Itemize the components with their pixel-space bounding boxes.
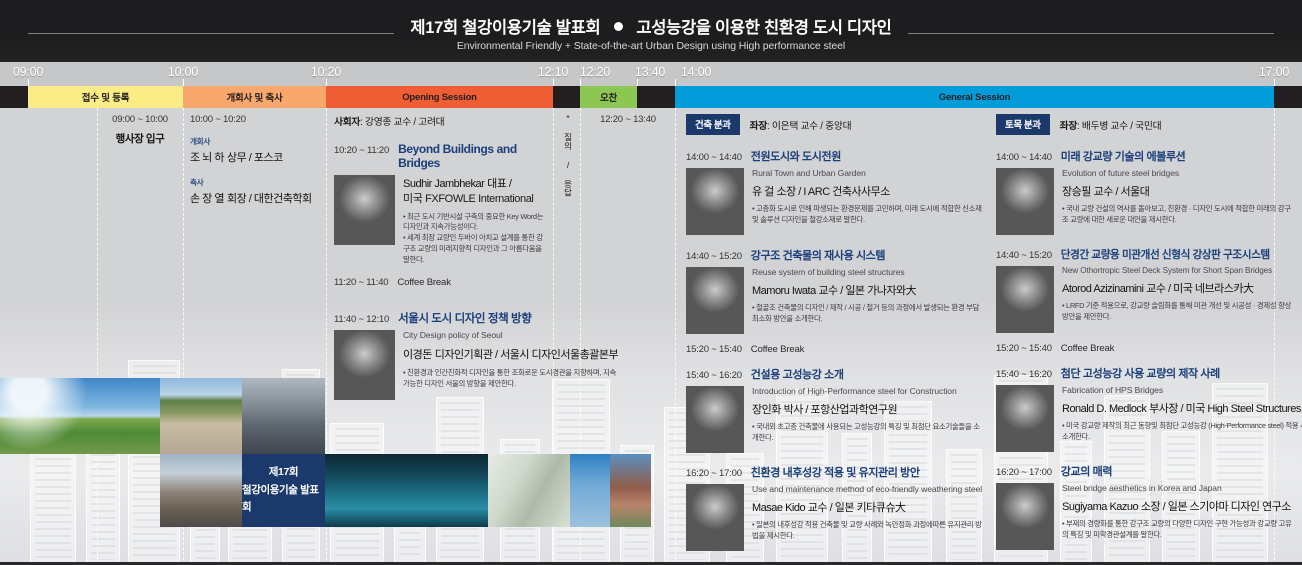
talk-speaker-name: Sugiyama Kazuo	[1062, 501, 1138, 513]
track-civil: 토목 분과 좌장: 배두병 교수 / 국민대 14:00 ~ 14:40 미래 …	[996, 114, 1296, 550]
talk-time: 14:00 ~ 14:40	[686, 152, 742, 163]
talk-title-ko: 건설용 고성능강 소개	[751, 366, 844, 382]
talk-speaker-name: Atorod Azizinamini	[1062, 283, 1144, 295]
moderator-value: : 강영종 교수 / 고려대	[360, 117, 444, 128]
talk-title-en: Fabrication of HPS Bridges	[1062, 385, 1302, 395]
talk-title-en: Introduction of High-Performance steel f…	[752, 386, 986, 396]
opening-remark-item-1: 축사 손 장 열 회장 / 대한건축학회	[190, 177, 322, 206]
segment-general-session[interactable]: General Session	[675, 86, 1274, 108]
speaker-photo	[996, 483, 1054, 550]
photo-wind-farm	[0, 378, 160, 454]
break-time: 11:20 ~ 11:40	[334, 277, 388, 288]
talk-bullet: • 국내외 초고층 건축물에 사용되는 고성능강의 특징 및 최첨단 요소기술들…	[752, 422, 986, 443]
talk-speaker-name: 이경돈	[403, 349, 432, 361]
segment-opening-session[interactable]: Opening Session	[326, 86, 553, 108]
segment-lunch[interactable]: 오찬	[580, 86, 637, 108]
tick-label-1000: 10:00	[168, 65, 198, 79]
track-architecture: 건축 분과 좌장: 이은택 교수 / 중앙대 14:00 ~ 14:40 전원도…	[686, 114, 986, 551]
talk-speaker-name: 장인화	[752, 404, 781, 416]
talk-title-ko: 전원도시와 도시전원	[751, 148, 841, 164]
talk-title-en: Steel bridge aesthetics in Korea and Jap…	[1062, 483, 1296, 493]
schedule-color-bar: 접수 및 등록 개회사 및 축사 Opening Session 오찬 Gene…	[0, 86, 1302, 108]
tick-label-1220: 12:20	[580, 65, 610, 79]
title-korean-left: 제17회 철강이용기술 발표회	[410, 19, 600, 37]
arch-break: 15:20 ~ 15:40 Coffee Break	[686, 344, 986, 355]
tick-mark	[326, 79, 327, 86]
qa-vertical-note: * 질의 / 응답	[556, 112, 574, 198]
break-time: 15:20 ~ 15:40	[686, 344, 742, 355]
tick-label-1700: 17:00	[1259, 65, 1289, 79]
speaker-photo	[686, 484, 744, 551]
opening-session-block: 사회자: 강영종 교수 / 고려대 10:20 ~ 11:20 Beyond B…	[334, 114, 548, 400]
opening-remark-item-0: 개회사 조 뇌 하 상무 / 포스코	[190, 136, 322, 165]
talk-time: 14:40 ~ 15:20	[686, 251, 742, 262]
talk-time: 16:20 ~ 17:00	[996, 467, 1052, 478]
break-label: Coffee Break	[1061, 343, 1114, 354]
registration-title: 행사장 입구	[100, 131, 180, 146]
talk-speaker-affil: 교수 / 일본 가나자와大	[818, 285, 916, 297]
column-guide	[675, 108, 676, 565]
track-chair: 좌장: 이은택 교수 / 중앙대	[750, 118, 852, 132]
talk-title-en: Use and maintenance method of eco-friend…	[752, 484, 986, 494]
track-header: 토목 분과 좌장: 배두병 교수 / 국민대	[996, 114, 1296, 135]
talk-time: 10:20 ~ 11:20	[334, 145, 389, 156]
talk-speaker-name: Masae Kido	[752, 502, 805, 514]
track-badge: 토목 분과	[996, 114, 1050, 135]
talk-title-en: Evolution of future steel bridges	[1062, 168, 1296, 178]
talk-title-ko: 단경간 교량용 미관개선 신형식 강상판 구조시스템	[1061, 247, 1270, 262]
speaker-photo	[334, 175, 395, 245]
talk-title-ko: Beyond Buildings and Bridges	[398, 142, 548, 170]
talk-speaker-name: Ronald D. Medlock	[1062, 403, 1146, 415]
tick-mark	[637, 79, 638, 86]
talk-title-ko: 서울시 도시 디자인 정책 방향	[398, 310, 531, 326]
talk-speaker-affil2: 미국 FXFOWLE International	[403, 192, 548, 207]
track-badge: 건축 분과	[686, 114, 740, 135]
segment-registration[interactable]: 접수 및 등록	[28, 86, 183, 108]
tick-mark	[580, 79, 581, 86]
track-chair: 좌장: 배두병 교수 / 국민대	[1060, 118, 1162, 132]
footer-event-badge: 제17회 철강이용기술 발표회	[242, 454, 325, 527]
talk-bullet: • 미국 강교량 제작의 최근 동향및 최첨단 고성능강 (High-Perfo…	[1062, 421, 1302, 442]
talk-bullet: • 친환경과 인간친화적 디자인을 통한 조화로운 도시경관을 지향하며, 지속…	[403, 368, 618, 389]
opening-session-talk-1[interactable]: 11:40 ~ 12:10 서울시 도시 디자인 정책 방향 City Desi…	[334, 310, 548, 400]
talk-speaker-affil: 소장 / I ARC 건축사사무소	[777, 186, 890, 198]
talk-title-en: Rural Town and Urban Garden	[752, 168, 986, 178]
registration-time: 09:00 ~ 10:00	[100, 114, 180, 125]
civil-talk-3[interactable]: 16:20 ~ 17:00 강교의 매력 Steel bridge aesthe…	[996, 463, 1296, 550]
tick-mark	[183, 79, 184, 86]
opening-remarks-block: 10:00 ~ 10:20 개회사 조 뇌 하 상무 / 포스코 축사 손 장 …	[190, 114, 322, 206]
talk-speaker-affil: 대표 /	[487, 178, 511, 190]
civil-talk-2[interactable]: 15:40 ~ 16:20 첨단 고성능강 사용 교량의 제작 사례 Fabri…	[996, 365, 1296, 452]
talk-time: 11:40 ~ 12:10	[334, 314, 389, 325]
page-title: 제17회 철강이용기술 발표회 고성능강을 이용한 친환경 도시 디자인	[0, 14, 1302, 38]
opening-remark-label: 축사	[190, 177, 322, 188]
talk-bullet: • 일본의 내후성강 적용 건축물 및 교량 사례와 녹안정화 과정에따른 유지…	[752, 520, 986, 541]
talk-speaker-name: 장승필	[1062, 186, 1091, 198]
tick-mark	[675, 79, 676, 86]
title-english-subtitle: Environmental Friendly + State-of-the-ar…	[0, 40, 1302, 52]
talk-speaker-affil: 소장 / 일본 스기야마 디자인 연구소	[1141, 501, 1291, 513]
speaker-photo	[996, 266, 1054, 333]
opening-session-talk-0[interactable]: 10:20 ~ 11:20 Beyond Buildings and Bridg…	[334, 142, 548, 265]
page-header: 제17회 철강이용기술 발표회 고성능강을 이용한 친환경 도시 디자인 Env…	[0, 0, 1302, 62]
talk-time: 15:40 ~ 16:20	[996, 369, 1052, 380]
civil-break: 15:20 ~ 15:40 Coffee Break	[996, 343, 1296, 354]
talk-bullet: • LRFD 기준 적용으로, 강교량 슬림화를 통해 미관 개선 및 시공성 …	[1062, 301, 1296, 322]
lunch-block: 12:20 ~ 13:40	[586, 114, 670, 125]
talk-speaker-name: 유 걸	[752, 186, 774, 198]
tick-label-1020: 10:20	[311, 65, 341, 79]
tick-mark	[28, 79, 29, 86]
arch-talk-2[interactable]: 15:40 ~ 16:20 건설용 고성능강 소개 Introduction o…	[686, 366, 986, 453]
talk-speaker-affil: 박사 / 포항산업과학연구원	[784, 404, 898, 416]
tick-label-1400: 14:00	[681, 65, 711, 79]
track-header: 건축 분과 좌장: 이은택 교수 / 중앙대	[686, 114, 986, 135]
photo-bicycles	[242, 378, 325, 454]
photo-canopy	[488, 454, 570, 527]
speaker-photo	[686, 168, 744, 235]
civil-talk-1[interactable]: 14:40 ~ 15:20 단경간 교량용 미관개선 신형식 강상판 구조시스템…	[996, 247, 1296, 333]
photo-village	[160, 378, 242, 454]
talk-title-ko: 강구조 건축물의 재사용 시스템	[751, 247, 885, 263]
moderator-label: 사회자	[334, 117, 360, 128]
chair-value: : 배두병 교수 / 국민대	[1077, 121, 1161, 132]
talk-time: 15:40 ~ 16:20	[686, 370, 742, 381]
footer-badge-line2: 철강이용기술 발표회	[242, 482, 325, 518]
talk-speaker-affil: 부사장 / 미국 High Steel Structures, Inc.	[1149, 403, 1302, 415]
footer-badge-line1: 제17회	[269, 464, 298, 482]
title-korean-right: 고성능강을 이용한 친환경 도시 디자인	[636, 19, 891, 37]
lunch-time: 12:20 ~ 13:40	[586, 114, 670, 125]
talk-speaker-affil: 교수 / 일본 키타큐슈大	[808, 502, 906, 514]
opening-remark-name: 조 뇌 하	[190, 152, 224, 164]
talk-title-ko: 강교의 매력	[1061, 463, 1112, 479]
speaker-photo	[686, 386, 744, 453]
opening-remark-name: 손 장 열	[190, 193, 224, 205]
talk-time: 16:20 ~ 17:00	[686, 468, 742, 479]
talk-bullet: • 부재의 경량화를 통한 강구조 교량의 다양한 디자인 구현 가능성과 강교…	[1062, 519, 1296, 540]
registration-block: 09:00 ~ 10:00 행사장 입구	[100, 114, 180, 146]
talk-title-ko: 미래 강교량 기술의 에볼루션	[1061, 148, 1186, 164]
talk-bullet: • 국내 교량 건설의 역사를 돌아보고, 친환경 · 디자인 도시에 적합한 …	[1062, 204, 1296, 225]
speaker-photo	[996, 168, 1054, 235]
talk-title-ko: 첨단 고성능강 사용 교량의 제작 사례	[1061, 365, 1220, 381]
photo-street	[160, 454, 242, 527]
talk-title-ko: 친환경 내후성강 적용 및 유지관리 방안	[751, 464, 920, 480]
photo-tower-blue	[570, 454, 610, 527]
opening-remark-label: 개회사	[190, 136, 322, 147]
talk-title-en: Reuse system of building steel structure…	[752, 267, 986, 277]
talk-time: 14:00 ~ 14:40	[996, 152, 1052, 163]
talk-bullet: • 최근 도시 기반시설 구축의 중요한 Key Word는 디자인과 지속가능…	[403, 212, 548, 233]
tick-mark	[553, 79, 554, 86]
title-bullet-dot	[614, 22, 623, 31]
photo-bridge	[325, 454, 488, 527]
break-time: 15:20 ~ 15:40	[996, 343, 1052, 354]
column-guide	[97, 108, 98, 565]
arch-talk-3[interactable]: 16:20 ~ 17:00 친환경 내후성강 적용 및 유지관리 방안 Use …	[686, 464, 986, 551]
talk-bullet: • 철골조 건축물의 디자인 / 제작 / 시공 / 철거 등의 과정에서 발생…	[752, 303, 986, 324]
speaker-photo	[996, 385, 1054, 452]
speaker-photo	[334, 330, 395, 400]
talk-speaker-name: Sudhir Jambhekar	[403, 178, 484, 190]
talk-title-en: City Design policy of Seoul	[403, 330, 618, 340]
opening-session-moderator: 사회자: 강영종 교수 / 고려대	[334, 114, 548, 128]
talk-time: 14:40 ~ 15:20	[996, 250, 1052, 261]
photo-tower-brown	[610, 454, 651, 527]
talk-bullet: • 고층화 도시로 인해 파생되는 환경문제를 고민하며, 미래 도시에 적합한…	[752, 204, 986, 225]
talk-speaker-affil: 교수 / 서울대	[1094, 186, 1150, 198]
opening-session-break-0: 11:20 ~ 11:40 Coffee Break	[334, 277, 548, 288]
chair-label: 좌장	[1060, 121, 1077, 132]
talk-speaker-affil: 교수 / 미국 네브라스카大	[1146, 283, 1253, 295]
time-ruler: 09:00 10:00 10:20 12:10 12:20 13:40 14:0…	[0, 62, 1302, 86]
talk-title-en: New Othortropic Steel Deck System for Sh…	[1062, 266, 1296, 275]
opening-remarks-time: 10:00 ~ 10:20	[190, 114, 322, 125]
break-label: Coffee Break	[397, 277, 450, 288]
break-label: Coffee Break	[751, 344, 804, 355]
opening-remark-affil: 회장 / 대한건축학회	[227, 193, 312, 205]
chair-label: 좌장	[750, 121, 767, 132]
tick-mark	[1274, 79, 1275, 86]
civil-talk-0[interactable]: 14:00 ~ 14:40 미래 강교량 기술의 에볼루션 Evolution …	[996, 148, 1296, 235]
talk-bullet: • 세계 최장 교량인 두바이 아치교 설계를 통한 강구조 교량의 미래지향적…	[403, 233, 548, 265]
arch-talk-0[interactable]: 14:00 ~ 14:40 전원도시와 도시전원 Rural Town and …	[686, 148, 986, 235]
segment-opening-remarks[interactable]: 개회사 및 축사	[183, 86, 326, 108]
speaker-photo	[686, 267, 744, 334]
talk-speaker-affil: 디자인기획관 / 서울시 디자인서울총괄본부	[435, 349, 618, 361]
tick-label-1210: 12:10	[538, 65, 568, 79]
opening-remark-affil: 상무 / 포스코	[227, 152, 283, 164]
tick-label-1340: 13:40	[635, 65, 665, 79]
tick-label-0900: 09:00	[13, 65, 43, 79]
talk-speaker-name: Mamoru Iwata	[752, 285, 816, 297]
arch-talk-1[interactable]: 14:40 ~ 15:20 강구조 건축물의 재사용 시스템 Reuse sys…	[686, 247, 986, 334]
chair-value: : 이은택 교수 / 중앙대	[767, 121, 851, 132]
